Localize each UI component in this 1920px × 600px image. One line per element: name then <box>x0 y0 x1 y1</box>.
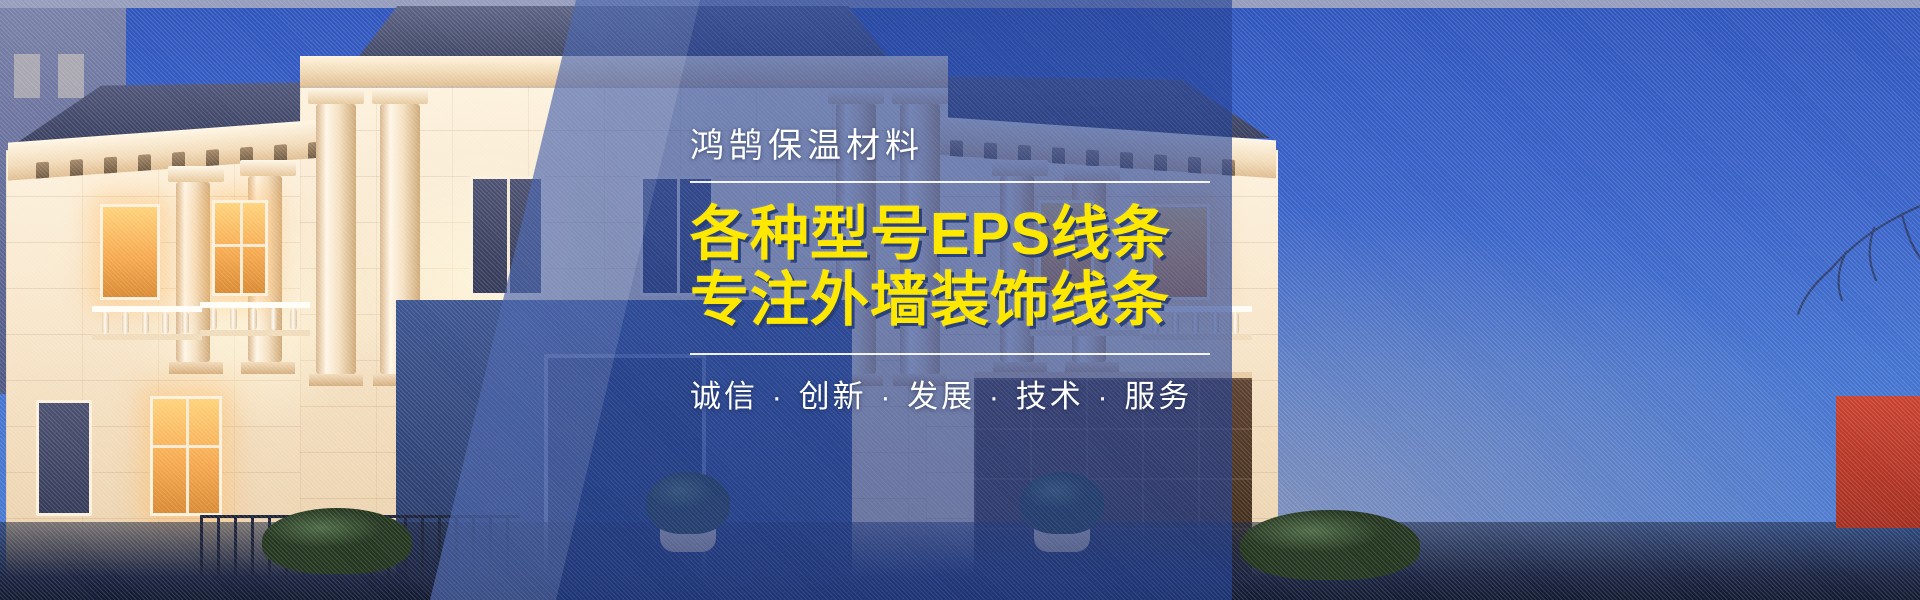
tagline-item-3: 技术 <box>1016 379 1084 414</box>
shrub <box>1020 472 1104 534</box>
tagline-sep-2: · <box>987 379 1004 414</box>
tagline-sep-0: · <box>770 379 787 414</box>
window <box>36 400 92 516</box>
window <box>470 176 544 296</box>
brand-name: 鸿鹄保温材料 <box>690 118 1250 167</box>
hero-copy: 鸿鹄保温材料 各种型号EPS线条 专注外墙装饰线条 诚信 · 创新 · 发展 ·… <box>690 118 1250 416</box>
window <box>212 200 268 296</box>
tagline-sep-3: · <box>1095 379 1112 414</box>
balustrade <box>92 306 202 340</box>
tree-branch-icon <box>1670 196 1920 346</box>
shrub <box>1240 510 1420 580</box>
center-roof <box>318 6 928 62</box>
tagline-sep-1: · <box>878 379 895 414</box>
shrub <box>646 472 730 534</box>
window <box>100 204 160 300</box>
balustrade <box>200 302 310 336</box>
column <box>316 104 356 374</box>
divider-bottom <box>690 353 1210 355</box>
headline-line-2: 专注外墙装饰线条 <box>690 267 1250 333</box>
window <box>150 396 222 516</box>
tagline: 诚信 · 创新 · 发展 · 技术 · 服务 <box>690 371 1250 416</box>
tagline-item-1: 创新 <box>799 379 867 414</box>
center-cornice <box>300 56 948 86</box>
shrub <box>262 508 412 574</box>
divider-top <box>690 181 1210 183</box>
tagline-item-4: 服务 <box>1124 379 1192 414</box>
tagline-item-0: 诚信 <box>690 379 758 414</box>
hero-banner: 鸿鹄保温材料 各种型号EPS线条 专注外墙装饰线条 诚信 · 创新 · 发展 ·… <box>0 0 1920 600</box>
headline-line-1: 各种型号EPS线条 <box>690 201 1250 267</box>
red-container <box>1836 396 1920 528</box>
headline: 各种型号EPS线条 专注外墙装饰线条 <box>690 201 1250 333</box>
tagline-item-2: 发展 <box>907 379 975 414</box>
